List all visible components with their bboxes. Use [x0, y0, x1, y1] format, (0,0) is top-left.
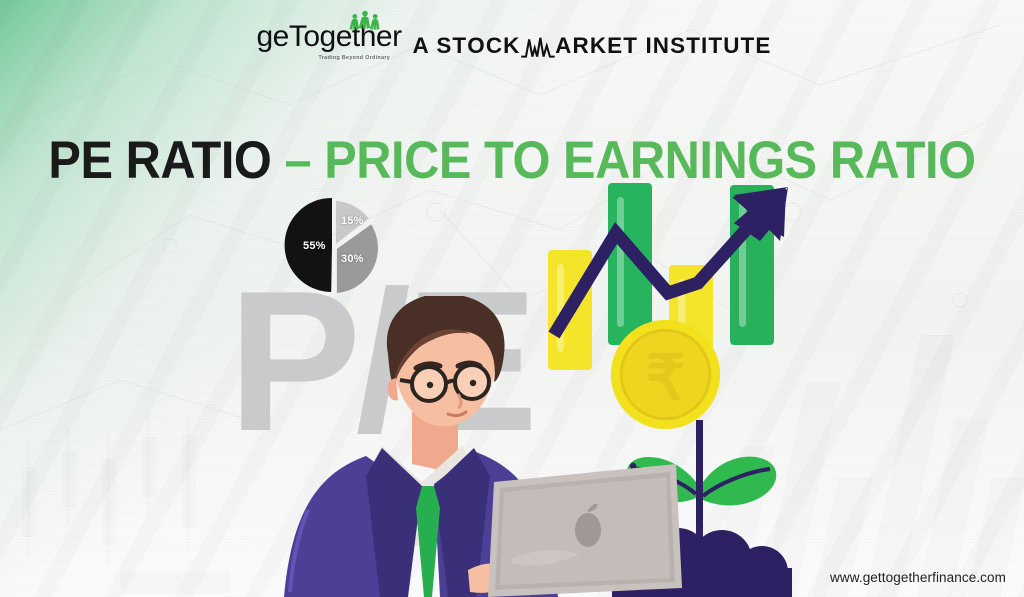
institute-title-part1: A ST	[412, 33, 467, 59]
banner-root: geTogether Trading Beyond Ordinary A STO…	[0, 0, 1024, 597]
pie-chart: 55% 15% 30%	[283, 196, 381, 294]
institute-title-part2: OCK	[467, 33, 520, 59]
plant-leaf-right	[703, 457, 776, 506]
pie-label-15: 15%	[341, 215, 364, 227]
pie-label-30: 30%	[341, 253, 364, 265]
person-tie	[416, 486, 440, 597]
page-title: PE RATIO – PRICE TO EARNINGS RATIO	[41, 134, 983, 187]
title-green-part: PRICE TO EARNINGS RATIO	[324, 131, 975, 190]
person-eye-left	[427, 382, 433, 388]
people-group-icon	[348, 10, 382, 32]
businessman-with-laptop	[262, 296, 682, 597]
title-dark-part: PE RATIO	[48, 131, 271, 190]
logo-tagline: Trading Beyond Ordinary	[318, 55, 390, 61]
laptop-apple-logo	[575, 513, 601, 547]
title-separator: –	[284, 131, 311, 190]
brand-logo[interactable]: geTogether Trading Beyond Ordinary	[256, 22, 401, 61]
header: geTogether Trading Beyond Ordinary A STO…	[0, 22, 1024, 61]
laptop	[488, 464, 682, 597]
person-eye-right	[470, 380, 476, 386]
pie-chart-svg	[283, 196, 381, 294]
website-url[interactable]: www.gettogetherfinance.com	[830, 570, 1006, 585]
pie-label-55: 55%	[303, 240, 326, 252]
heartbeat-pulse-icon	[519, 36, 556, 60]
institute-title: A STOCK ARKET INSTITUTE	[412, 33, 771, 61]
person-ear	[388, 378, 398, 400]
plant-stem	[696, 420, 703, 550]
institute-title-part3: ARKET INSTITUTE	[555, 33, 771, 59]
